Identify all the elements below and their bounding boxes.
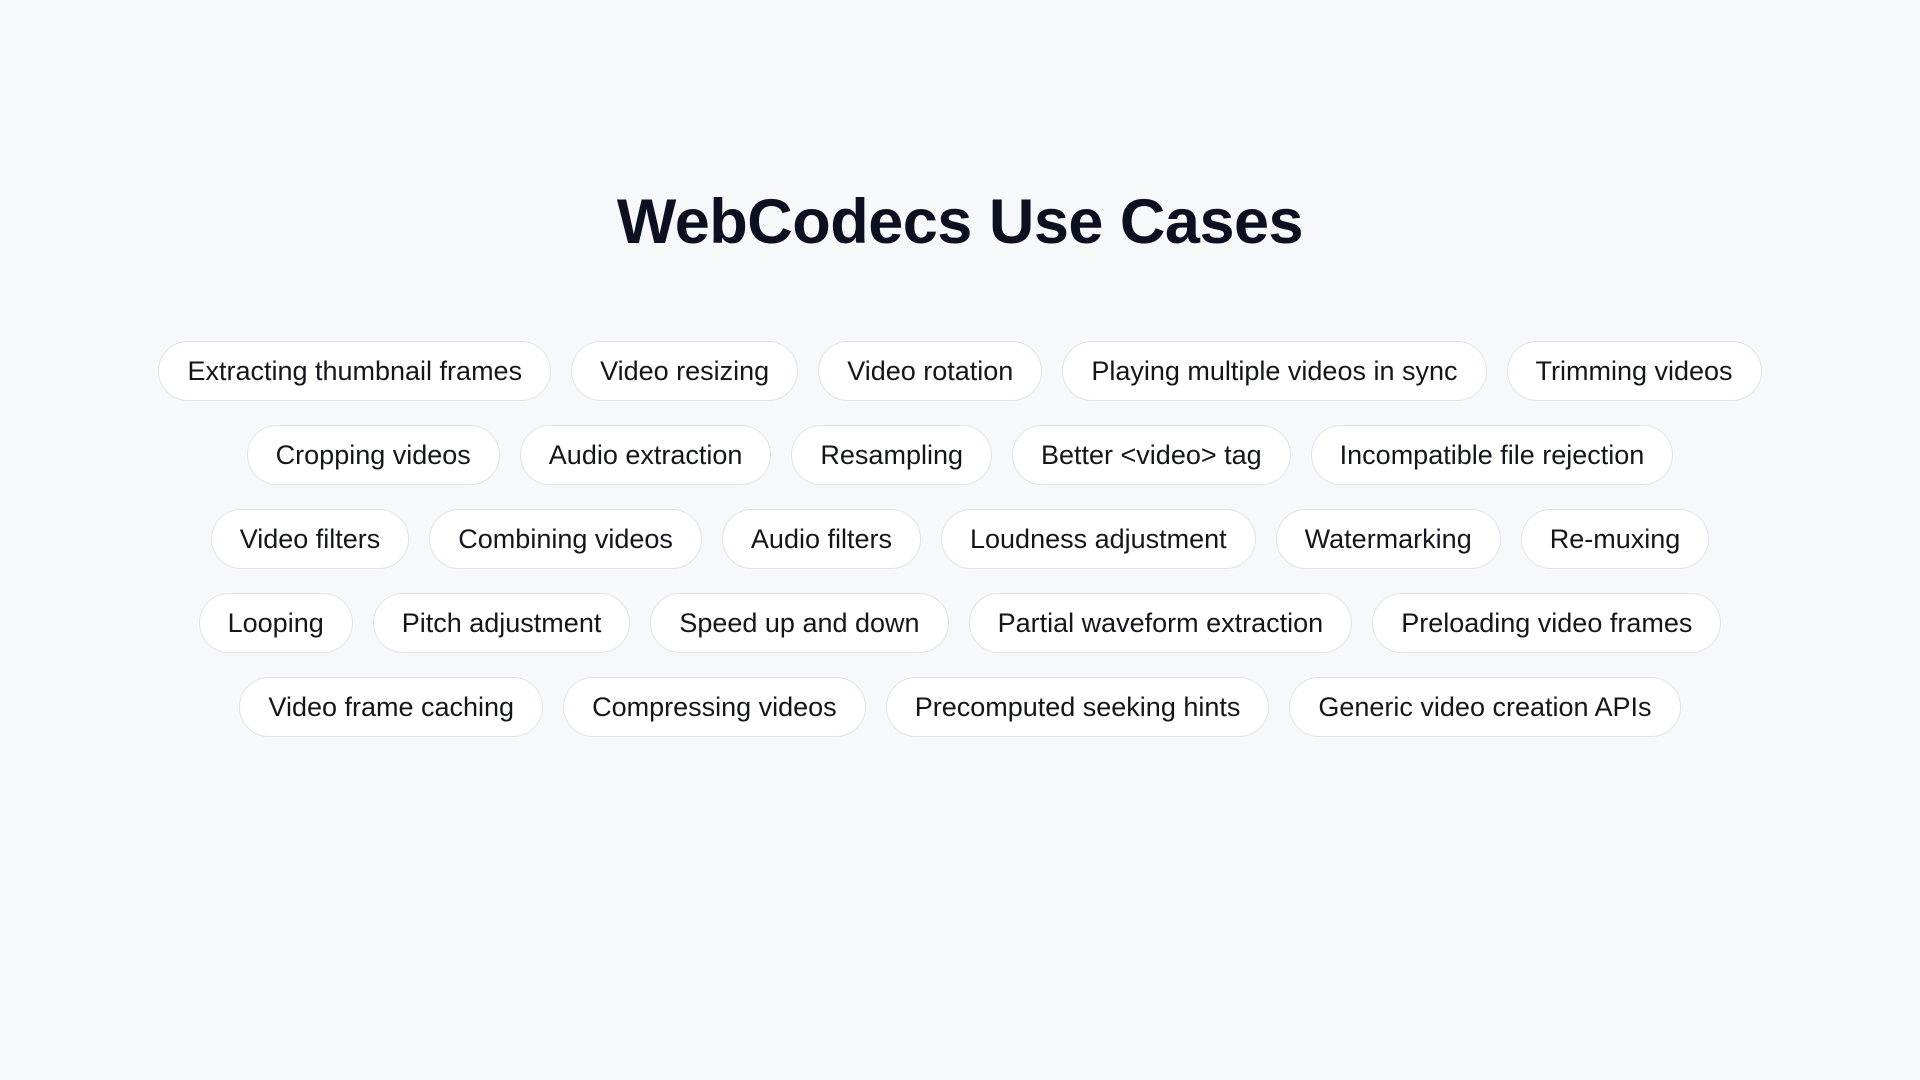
- use-case-pill[interactable]: Loudness adjustment: [941, 509, 1256, 569]
- use-case-pill[interactable]: Re-muxing: [1521, 509, 1710, 569]
- use-case-pill[interactable]: Combining videos: [429, 509, 702, 569]
- use-case-pill[interactable]: Watermarking: [1276, 509, 1501, 569]
- page-root: WebCodecs Use Cases Extracting thumbnail…: [0, 0, 1920, 1080]
- use-case-pill[interactable]: Looping: [199, 593, 353, 653]
- use-case-pill[interactable]: Generic video creation APIs: [1289, 677, 1680, 737]
- use-case-pill[interactable]: Extracting thumbnail frames: [158, 341, 551, 401]
- use-case-pill[interactable]: Video frame caching: [239, 677, 543, 737]
- use-case-pill[interactable]: Resampling: [791, 425, 992, 485]
- use-case-pill[interactable]: Trimming videos: [1507, 341, 1762, 401]
- use-case-pill[interactable]: Playing multiple videos in sync: [1062, 341, 1486, 401]
- use-case-pill[interactable]: Cropping videos: [247, 425, 500, 485]
- use-case-pill[interactable]: Video filters: [211, 509, 410, 569]
- use-case-pill[interactable]: Video resizing: [571, 341, 798, 401]
- use-case-pill[interactable]: Audio extraction: [520, 425, 772, 485]
- use-case-pill[interactable]: Compressing videos: [563, 677, 866, 737]
- use-case-pill[interactable]: Incompatible file rejection: [1311, 425, 1674, 485]
- use-case-pill[interactable]: Audio filters: [722, 509, 921, 569]
- use-case-pill[interactable]: Video rotation: [818, 341, 1042, 401]
- use-case-pill[interactable]: Partial waveform extraction: [969, 593, 1353, 653]
- page-title: WebCodecs Use Cases: [617, 188, 1303, 257]
- use-case-pill[interactable]: Precomputed seeking hints: [886, 677, 1270, 737]
- use-case-pill[interactable]: Better <video> tag: [1012, 425, 1291, 485]
- use-case-pill[interactable]: Pitch adjustment: [373, 593, 631, 653]
- use-case-tag-cloud: Extracting thumbnail framesVideo resizin…: [140, 341, 1780, 737]
- use-case-pill[interactable]: Preloading video frames: [1372, 593, 1721, 653]
- use-case-pill[interactable]: Speed up and down: [650, 593, 948, 653]
